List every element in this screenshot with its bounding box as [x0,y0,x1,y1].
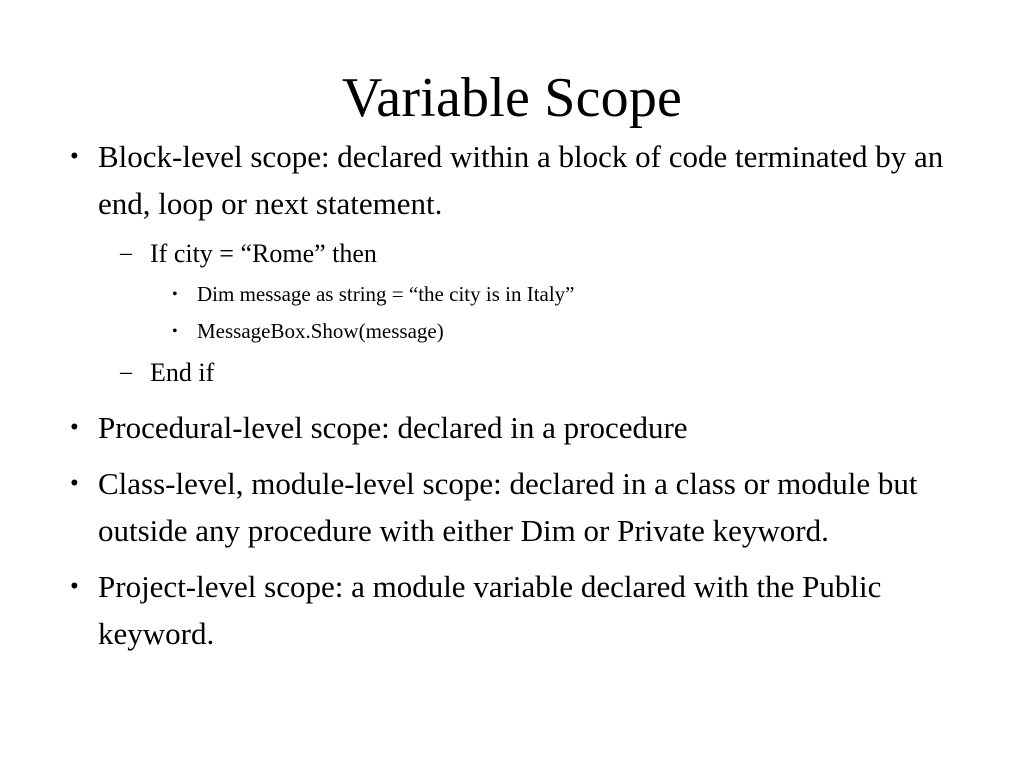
slide-canvas: Variable Scope • Block-level scope: decl… [0,0,1024,768]
list-item: • Dim message as string = “the city is i… [60,276,960,313]
bullet-marker-icon: • [60,133,98,180]
bullet-marker-icon: – [112,231,150,276]
list-item: • Project-level scope: a module variable… [60,563,960,657]
slide-body: • Block-level scope: declared within a b… [60,133,960,657]
page-title: Variable Scope [0,66,1024,130]
list-item-text: Project-level scope: a module variable d… [98,563,960,657]
list-item-text: If city = “Rome” then [150,231,377,276]
list-item: • Block-level scope: declared within a b… [60,133,960,227]
list-item-text: End if [150,350,214,395]
list-item: • Class-level, module-level scope: decla… [60,460,960,554]
bullet-marker-icon: • [163,313,197,350]
bullet-marker-icon: – [112,350,150,395]
list-item: – End if [60,350,960,395]
list-item-text: Procedural-level scope: declared in a pr… [98,404,960,451]
bullet-marker-icon: • [60,563,98,610]
spacer [60,395,960,404]
spacer [60,554,960,563]
bullet-marker-icon: • [60,460,98,507]
list-item: • MessageBox.Show(message) [60,313,960,350]
spacer [60,451,960,460]
list-item: – If city = “Rome” then [60,231,960,276]
list-item-text: Class-level, module-level scope: declare… [98,460,960,554]
list-item-text: MessageBox.Show(message) [197,313,444,350]
bullet-marker-icon: • [163,276,197,313]
list-item-text: Dim message as string = “the city is in … [197,276,575,313]
bullet-marker-icon: • [60,404,98,451]
list-item: • Procedural-level scope: declared in a … [60,404,960,451]
list-item-text: Block-level scope: declared within a blo… [98,133,960,227]
